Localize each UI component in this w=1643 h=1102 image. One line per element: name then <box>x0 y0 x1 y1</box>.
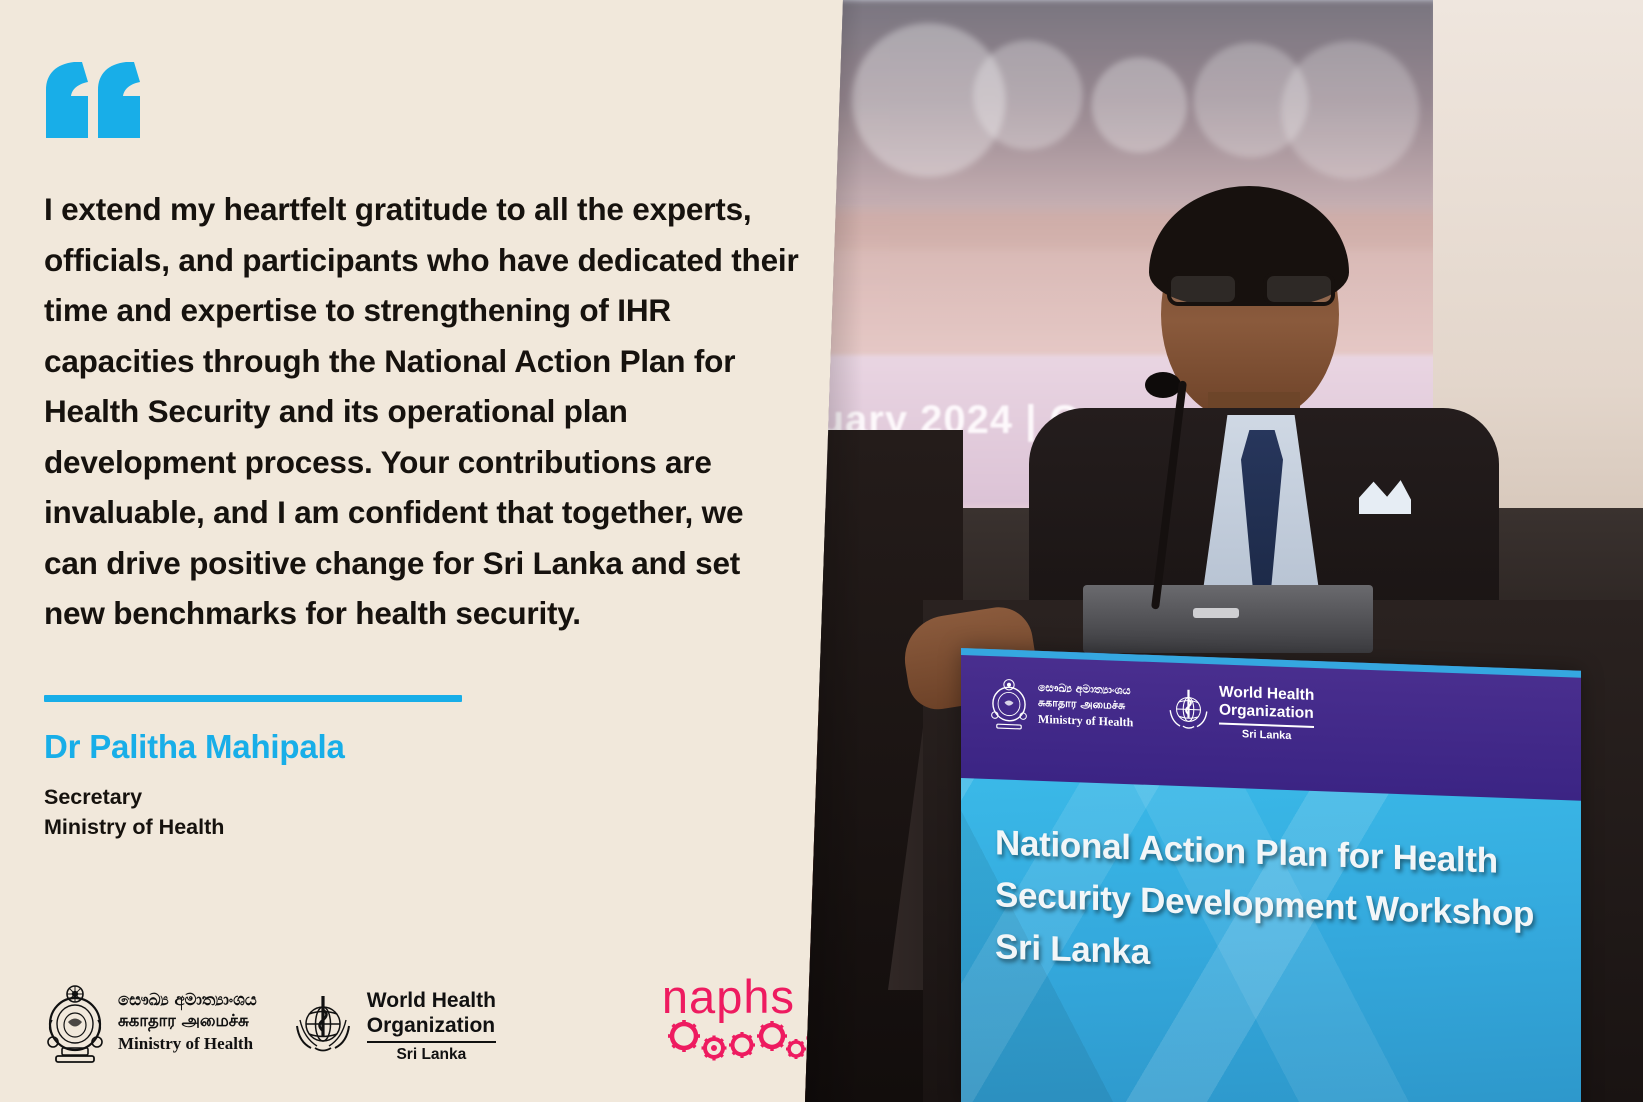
who-text-block: World Health Organization Sri Lanka <box>367 988 496 1064</box>
who-emblem-icon <box>1166 687 1211 734</box>
gears-row-icon <box>662 1018 830 1064</box>
banner-moh-english: Ministry of Health <box>1038 712 1133 730</box>
who-line-1: World Health <box>367 988 496 1013</box>
laptop-on-podium <box>1083 585 1373 653</box>
speaker-role-line-1: Secretary <box>44 782 860 812</box>
banner-who-text-block: World Health Organization Sri Lanka <box>1219 683 1314 742</box>
naphs-wordmark: naphs <box>662 974 830 1020</box>
quote-panel: I extend my heartfelt gratitude to all t… <box>0 0 860 1102</box>
banner-title: National Action Plan for Health Security… <box>995 817 1565 994</box>
podium-banner: සෞඛ්‍ය අමාත්‍යාංශය சுகாதார அமைச்சு Minis… <box>961 648 1581 1102</box>
banner-logo-ministry-of-health: සෞඛ්‍ය අමාත්‍යාංශය சுகாதார அமைச்சு Minis… <box>989 675 1133 734</box>
speaker-role-line-2: Ministry of Health <box>44 812 860 842</box>
laptop-notch <box>1193 608 1239 618</box>
banner-header-bar: සෞඛ්‍ය අමාත්‍යාංශය சுகாதார அமைச்சு Minis… <box>961 648 1581 801</box>
microphone-head <box>1145 372 1181 398</box>
speaker-name: Dr Palitha Mahipala <box>44 728 860 766</box>
attribution-divider <box>44 695 462 702</box>
moh-english: Ministry of Health <box>118 1034 257 1054</box>
quote-text: I extend my heartfelt gratitude to all t… <box>44 184 804 639</box>
banner-logo-who: World Health Organization Sri Lanka <box>1166 682 1314 743</box>
logo-naphs: naphs <box>662 974 830 1064</box>
moh-sinhala: සෞඛ්‍ය අමාත්‍යාංශය <box>118 990 257 1010</box>
sri-lanka-national-emblem-icon <box>44 980 106 1064</box>
logo-world-health-organization: World Health Organization Sri Lanka <box>291 988 496 1064</box>
footer-logo-row: සෞඛ්‍ය අමාත්‍යාංශය சுகாதார அமைச்சு Minis… <box>44 974 830 1064</box>
speaker-photograph: ruary 2024 | Co <box>793 0 1643 1102</box>
who-country: Sri Lanka <box>367 1046 496 1064</box>
moh-tamil: சுகாதார அமைச்சு <box>118 1011 257 1033</box>
banner-moh-text-block: සෞඛ්‍ය අමාත්‍යාංශය சுகாதார அமைச்சு Minis… <box>1038 681 1133 730</box>
who-line-2: Organization <box>367 1013 496 1038</box>
logo-ministry-of-health: සෞඛ්‍ය අමාත්‍යාංශය சுகாதார அமைச்சு Minis… <box>44 980 257 1064</box>
quote-card: I extend my heartfelt gratitude to all t… <box>0 0 1643 1102</box>
banner-who-line-2: Organization <box>1219 701 1314 722</box>
who-divider <box>367 1041 496 1043</box>
banner-who-country: Sri Lanka <box>1219 727 1314 742</box>
who-emblem-icon <box>291 994 355 1058</box>
moh-text-block: සෞඛ්‍ය අමාත්‍යාංශය சுகாதார அமைச்சு Minis… <box>118 990 257 1054</box>
quotation-mark-icon <box>44 62 144 138</box>
speaker-role: Secretary Ministry of Health <box>44 782 860 842</box>
eyeglasses-icon <box>1165 268 1337 310</box>
sri-lanka-national-emblem-icon <box>989 675 1029 730</box>
